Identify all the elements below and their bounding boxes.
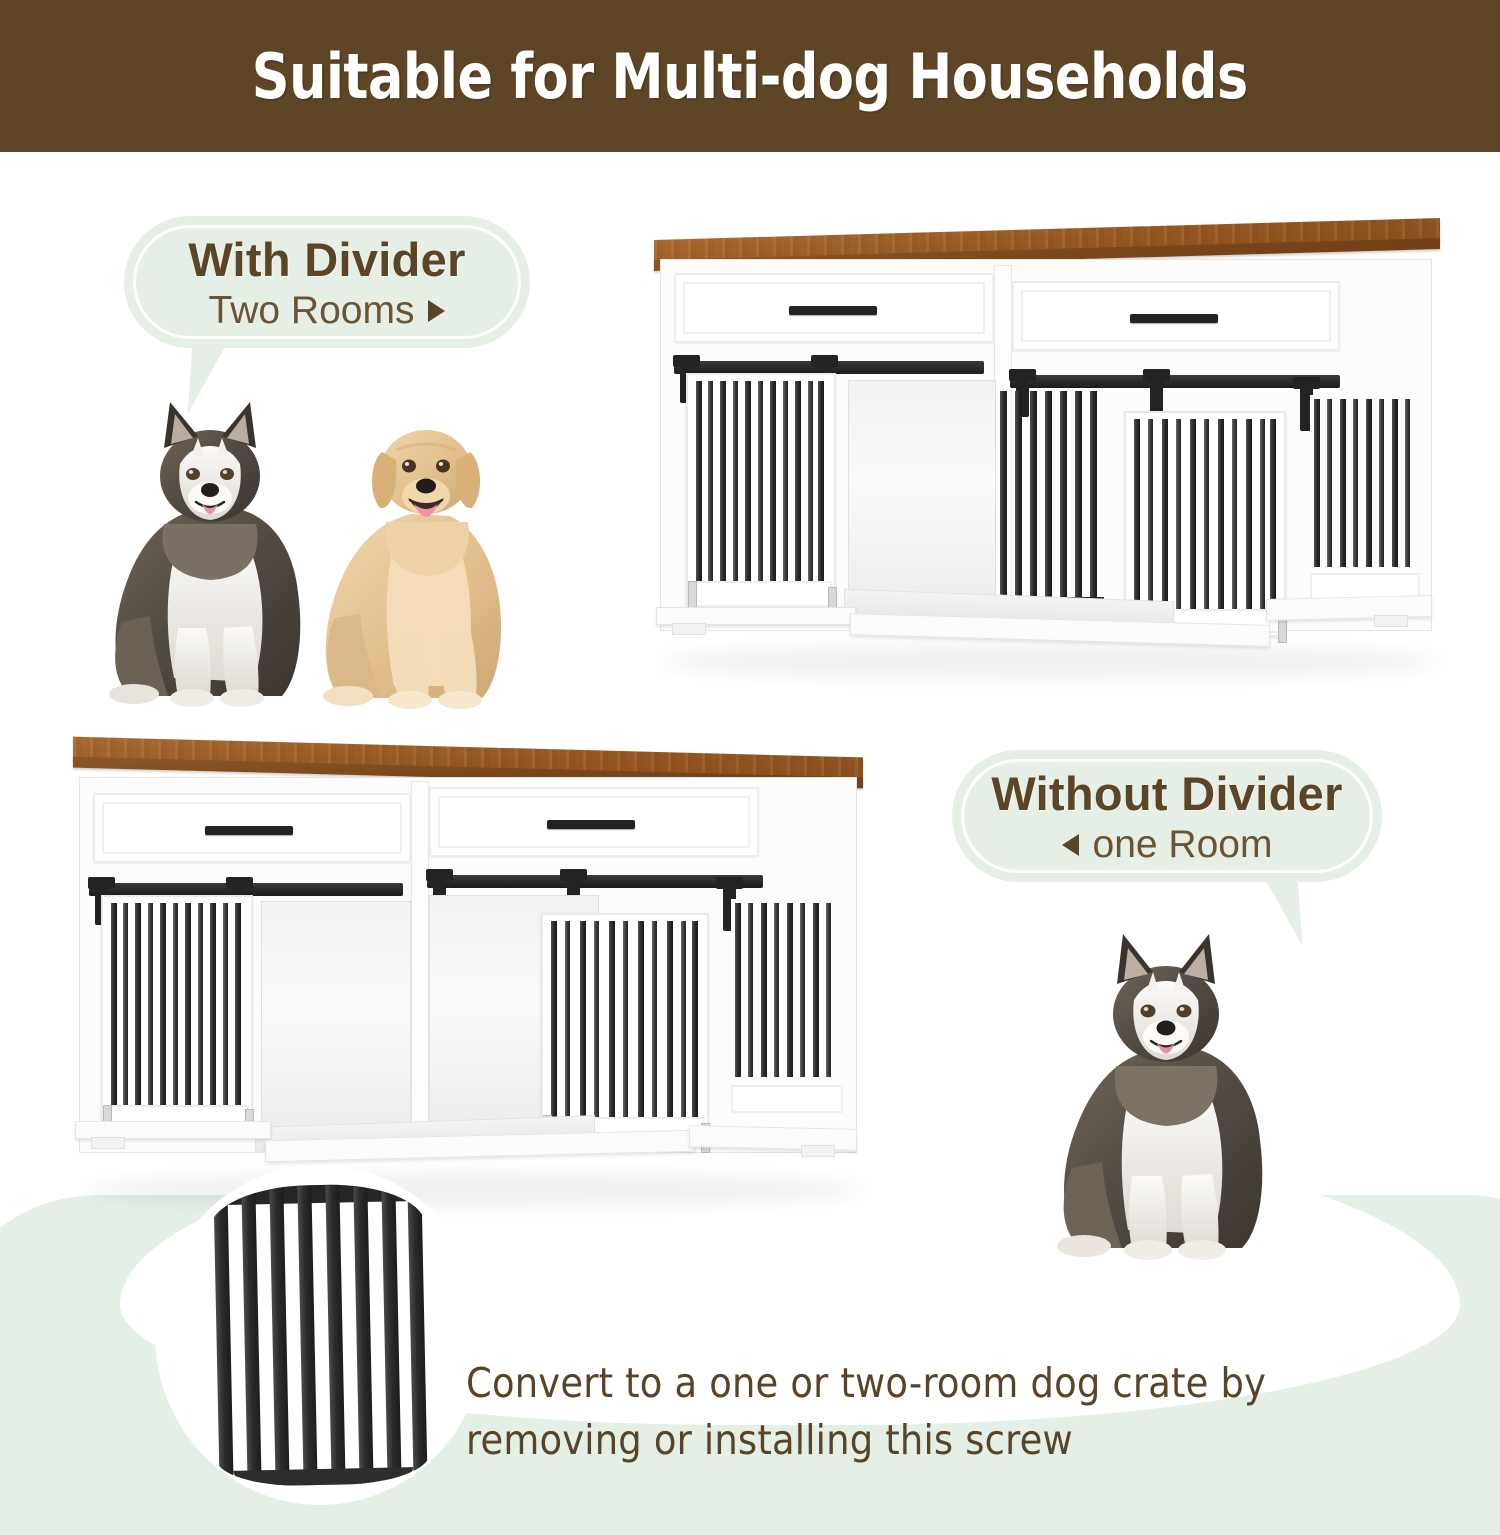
sliding-door-left[interactable]	[686, 373, 836, 611]
callout-with-divider-title: With Divider	[188, 232, 465, 287]
infographic-canvas: Suitable for Multi-dog Households	[0, 0, 1500, 1500]
foot-right	[1374, 615, 1408, 627]
foot-right-2	[801, 1145, 835, 1157]
drawer-right-pull[interactable]	[1130, 314, 1218, 323]
detail-arc-bottom	[233, 1467, 414, 1487]
bubble-tail-without-divider	[1242, 874, 1303, 950]
foot-left	[672, 623, 706, 635]
barn-door-rail-right	[1010, 375, 1340, 388]
sliding-door-right-2[interactable]	[541, 913, 709, 1145]
bottom-caption: Convert to a one or two-room dog crate b…	[466, 1355, 1426, 1468]
drawer-left[interactable]	[674, 273, 994, 343]
side-panel-right	[1310, 395, 1420, 607]
sliding-door-left-2[interactable]	[101, 895, 253, 1135]
door-right-bars	[1134, 419, 1276, 609]
page-title: Suitable for Multi-dog Households	[252, 40, 1248, 113]
crate-shadow-2	[85, 1173, 865, 1207]
door-left-bars-2	[111, 903, 243, 1111]
dog-malamute-bottom	[1038, 910, 1288, 1260]
center-stile-2	[411, 781, 429, 1141]
callout-without-divider-subtitle-text: one Room	[1093, 823, 1273, 867]
drawer-left-pull-2[interactable]	[205, 826, 293, 835]
caption-line-2: removing or installing this screw	[466, 1412, 1426, 1469]
side-panel-right-2	[731, 899, 843, 1119]
side-panel-bars	[1314, 399, 1414, 567]
callout-with-divider[interactable]: With Divider Two Rooms	[124, 216, 530, 348]
drawer-left-2[interactable]	[93, 793, 411, 863]
callout-without-divider[interactable]: Without Divider one Room	[952, 750, 1382, 882]
crate-shadow	[660, 645, 1440, 679]
crate-open-room-left	[261, 901, 411, 1135]
dog-labrador-top	[300, 380, 525, 710]
divider-panel-detail-bars	[209, 1183, 430, 1487]
drawer-left-pull[interactable]	[789, 306, 877, 315]
foot-left-2	[91, 1137, 125, 1149]
drawer-right-pull-2[interactable]	[547, 820, 635, 829]
divider-panel-detail-inset	[155, 1165, 485, 1505]
product-crate-without-divider[interactable]	[55, 735, 885, 1205]
callout-with-divider-subtitle: Two Rooms	[209, 289, 446, 333]
caption-line-1: Convert to a one or two-room dog crate b…	[466, 1355, 1426, 1412]
door-left-kick-rail	[690, 581, 832, 607]
divider-panel	[998, 391, 1106, 617]
side-panel-bars-2	[735, 903, 837, 1077]
callout-with-divider-subtitle-text: Two Rooms	[209, 289, 415, 333]
divider-panel-bars	[998, 391, 1104, 601]
header-banner: Suitable for Multi-dog Households	[0, 0, 1500, 152]
crate-cavity-left	[848, 380, 996, 608]
door-right-bars-2	[551, 921, 699, 1117]
callout-without-divider-subtitle: one Room	[1062, 823, 1273, 867]
dog-malamute-top	[92, 378, 322, 708]
drawer-right[interactable]	[1012, 281, 1340, 351]
door-left-bars	[696, 381, 826, 587]
drawer-right-2[interactable]	[429, 787, 759, 857]
callout-without-divider-title: Without Divider	[991, 766, 1342, 821]
product-crate-with-divider[interactable]	[630, 215, 1460, 675]
bubble-tail-with-divider	[188, 342, 249, 418]
triangle-left-icon	[1062, 834, 1079, 856]
triangle-right-icon	[428, 300, 445, 322]
side-panel-kick-rail-2	[731, 1085, 843, 1113]
barn-door-rail-right-2	[427, 875, 763, 888]
